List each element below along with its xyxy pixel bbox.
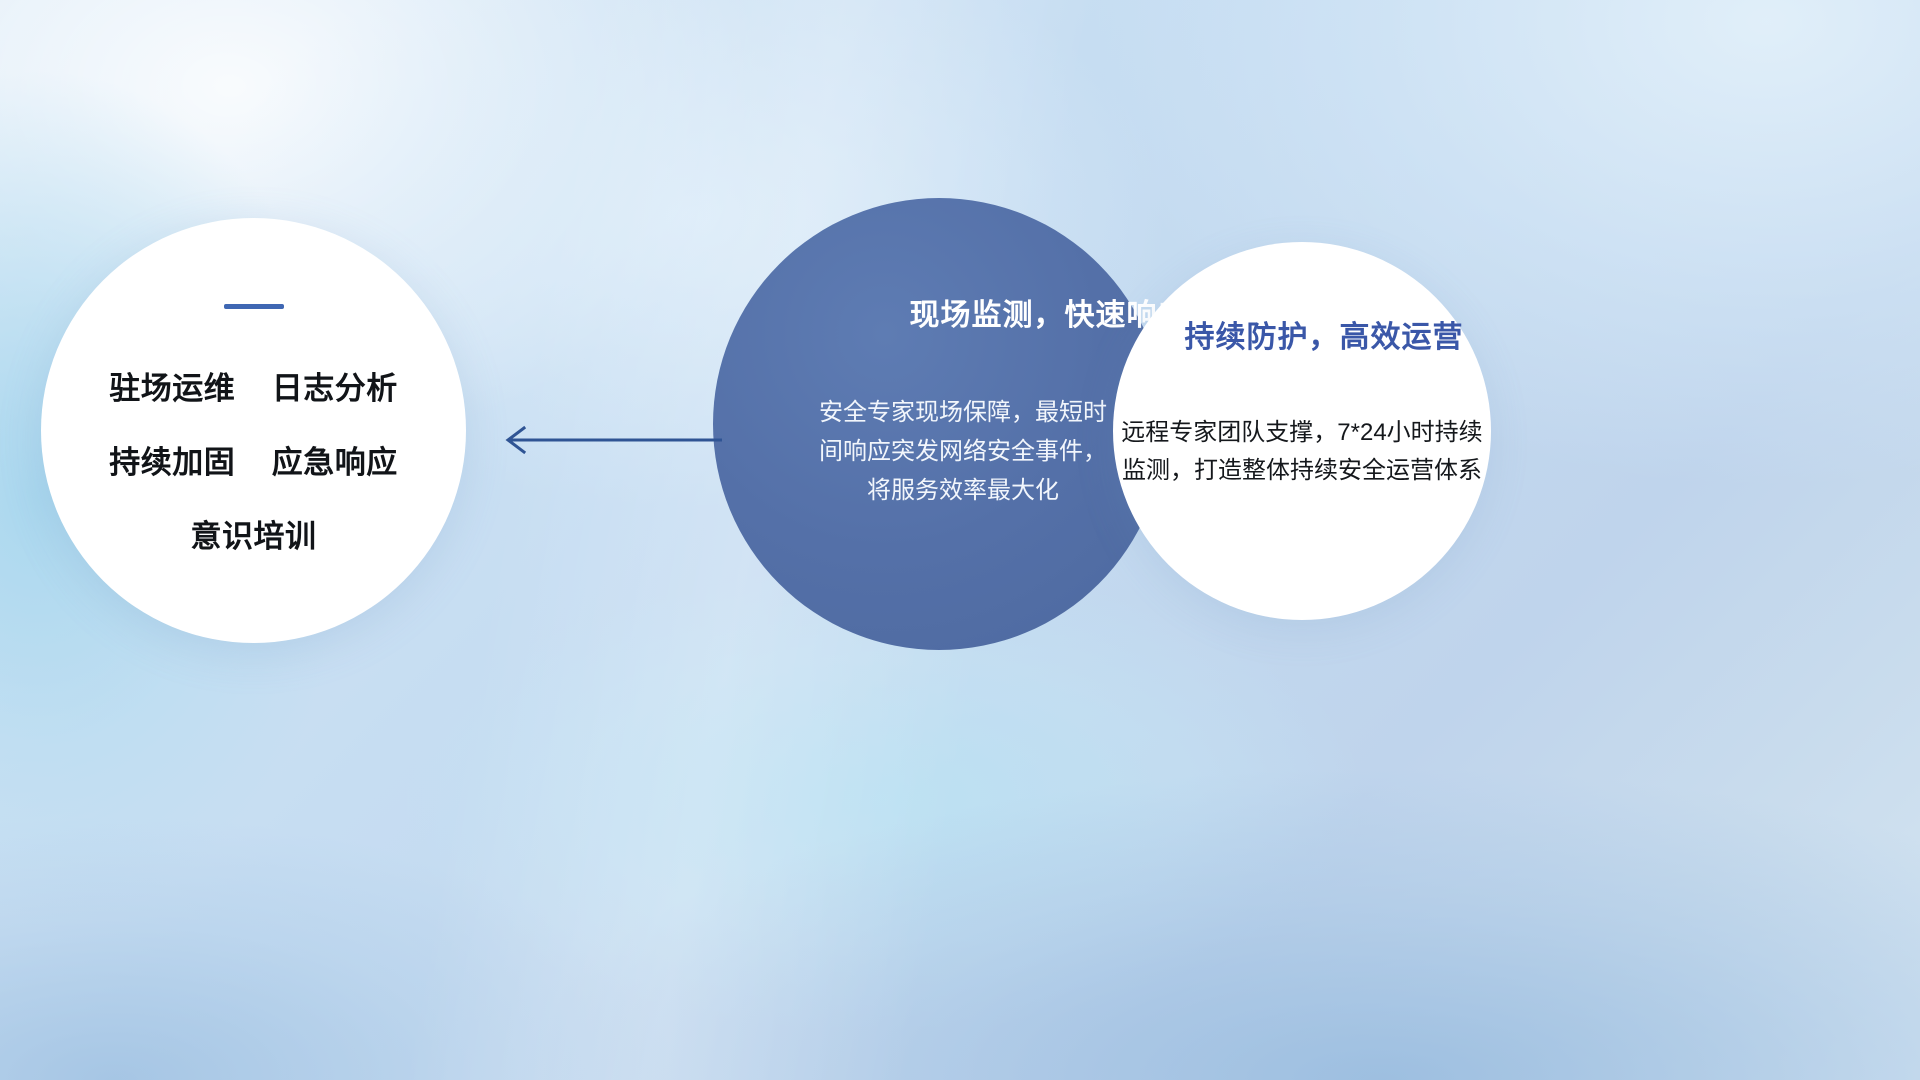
left-keyword-line-3: 意识培训 [41, 521, 466, 552]
middle-circle-body: 安全专家现场保障，最短时间响应突发网络安全事件，将服务效率最大化 [817, 394, 1109, 511]
three-circle-diagram: 驻场运维 日志分析 持续加固 应急响应 意识培训 现场监测，快速响应 安全专家现… [0, 0, 1920, 1080]
right-continuous-circle[interactable]: 持续防护，高效运营 远程专家团队支撑，7*24小时持续监测，打造整体持续安全运营… [1113, 242, 1491, 620]
left-circle-content: 驻场运维 日志分析 持续加固 应急响应 意识培训 [41, 304, 466, 552]
right-circle-content: 持续防护，高效运营 远程专家团队支撑，7*24小时持续监测，打造整体持续安全运营… [1113, 242, 1491, 620]
middle-onsite-circle[interactable]: 现场监测，快速响应 安全专家现场保障，最短时间响应突发网络安全事件，将服务效率最… [713, 198, 1165, 650]
right-circle-body: 远程专家团队支撑，7*24小时持续监测，打造整体持续安全运营体系 [1116, 414, 1488, 490]
left-keyword-line-1: 驻场运维 日志分析 [41, 373, 466, 404]
left-capability-circle[interactable]: 驻场运维 日志分析 持续加固 应急响应 意识培训 [41, 218, 466, 643]
left-keyword-line-2: 持续加固 应急响应 [41, 447, 466, 478]
arrow-left-icon [494, 418, 724, 462]
right-circle-title: 持续防护，高效运营 [1185, 312, 1464, 356]
middle-circle-content: 现场监测，快速响应 安全专家现场保障，最短时间响应突发网络安全事件，将服务效率最… [713, 198, 1165, 650]
divider-dash-icon [224, 304, 284, 309]
